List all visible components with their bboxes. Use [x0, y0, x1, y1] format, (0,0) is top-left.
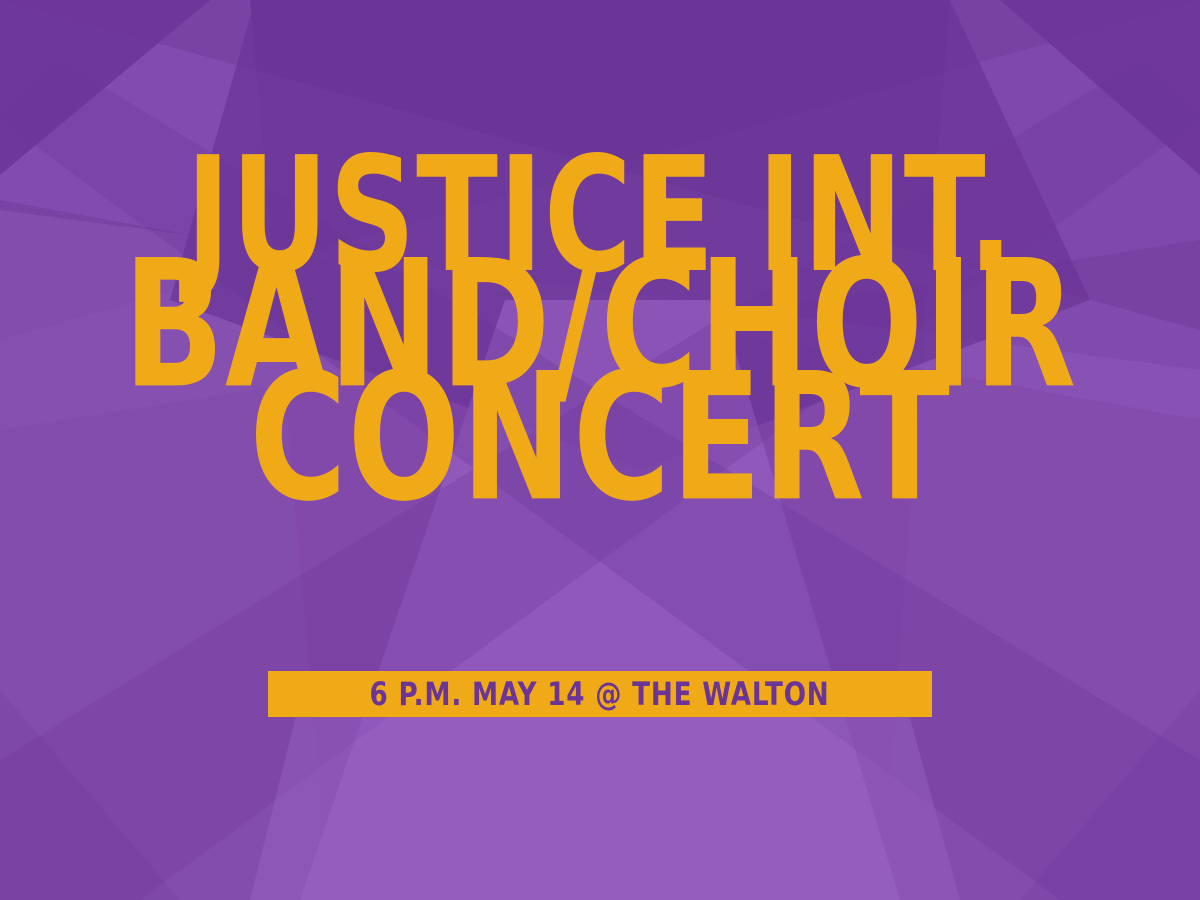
event-details-banner: 6 P.M. MAY 14 @ THE WALTON [268, 671, 932, 717]
event-details-text: 6 P.M. MAY 14 @ THE WALTON [370, 675, 830, 713]
poster-content: JUSTICE INT. BAND/CHOIR CONCERT 6 P.M. M… [0, 0, 1200, 900]
poster-headline: JUSTICE INT. BAND/CHOIR CONCERT [0, 0, 1200, 511]
headline-line-3: CONCERT [120, 363, 1080, 514]
poster-canvas: JUSTICE INT. BAND/CHOIR CONCERT 6 P.M. M… [0, 0, 1200, 900]
